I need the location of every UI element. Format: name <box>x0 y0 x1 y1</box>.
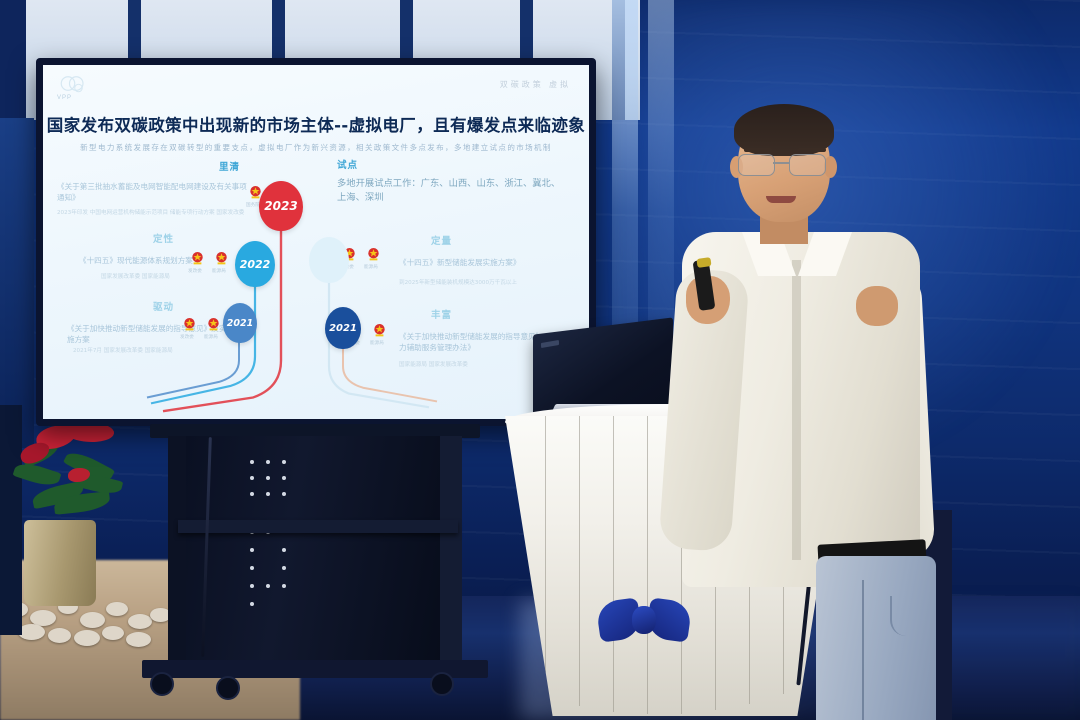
section-heading-qudong: 驱动 <box>153 299 174 313</box>
section-micro-qudong: 2021年7月 国家发展改革委 国家能源局 <box>73 347 227 355</box>
av-cart-shelf <box>178 520 458 533</box>
potted-plant <box>10 420 140 530</box>
slide-meta: 双碳政策 虚拟 <box>500 79 571 90</box>
caster-wheel <box>150 672 174 696</box>
emblem-label: 能源局 <box>204 334 218 340</box>
eyeglasses-icon <box>738 154 832 174</box>
section-heading-liangzhi: 里清 <box>219 159 240 173</box>
presenter-brow-right <box>798 148 826 152</box>
timeline-node-year: 2022 <box>240 258 271 271</box>
section-cite-dingliang: 《十四五》新型储能发展实施方案》 <box>399 257 569 268</box>
timeline-node-year: 2023 <box>264 199 297 213</box>
laptop-logo <box>541 340 559 348</box>
policy-timeline: 里清 《关于第三批抽水蓄能及电网智能配电网建设及有关事项通知》 2023年印发 … <box>43 165 589 419</box>
section-cite-liangzhi: 《关于第三批抽水蓄能及电网智能配电网建设及有关事项通知》 <box>57 181 247 204</box>
national-emblem-icon <box>373 323 386 338</box>
timeline-node-2021-right: 2021 <box>325 307 361 349</box>
emblem-label: 能源局 <box>212 268 226 274</box>
presenter-jeans <box>816 556 936 720</box>
presenter-brow-left <box>744 148 772 152</box>
planter-pot <box>24 520 96 606</box>
presenter-right-hand <box>856 286 898 326</box>
national-emblem-icon <box>367 247 380 262</box>
national-emblem-icon <box>183 317 196 332</box>
section-heading-shidian: 试点 <box>337 157 358 171</box>
national-emblem-icon <box>215 251 228 266</box>
av-cart-left-post <box>168 436 188 674</box>
slide-title: 国家发布双碳政策中出现新的市场主体--虚拟电厂，且有爆发点来临迹象 <box>43 112 589 136</box>
timeline-node-2023: 2023 <box>259 181 303 231</box>
av-cart-panel <box>186 436 444 674</box>
emblem-label: 发改委 <box>188 268 202 274</box>
display-screen: VPP 双碳政策 虚拟 国家发布双碳政策中出现新的市场主体--虚拟电厂，且有爆发… <box>36 58 596 426</box>
section-heading-dingxing: 定性 <box>153 231 174 245</box>
national-emblem-icon <box>207 317 220 332</box>
presenter <box>676 110 926 720</box>
caster-wheel <box>216 676 240 700</box>
section-micro-dingliang: 到2025年新型储能装机规模达3000万千瓦以上 <box>399 279 559 287</box>
timeline-node-year: 2021 <box>227 318 253 329</box>
section-heading-dingliang: 定量 <box>431 233 452 247</box>
section-body-shidian: 多地开展试点工作：广东、山西、山东、浙江、冀北、上海、深圳 <box>337 177 569 206</box>
company-logo-icon <box>59 75 89 95</box>
window-edge-dark <box>0 0 26 120</box>
slide-canvas: VPP 双碳政策 虚拟 国家发布双碳政策中出现新的市场主体--虚拟电厂，且有爆发… <box>43 65 589 419</box>
emblem-label: 发改委 <box>180 334 194 340</box>
section-heading-fengfu: 丰富 <box>431 307 452 321</box>
screenshot-root: VPP 双碳政策 虚拟 国家发布双碳政策中出现新的市场主体--虚拟电厂，且有爆发… <box>0 0 1080 720</box>
jeans-seam <box>862 580 864 720</box>
national-emblem-icon <box>191 251 204 266</box>
caster-wheel <box>430 672 454 696</box>
shirt-placket <box>792 260 801 560</box>
section-micro-liangzhi: 2023年印发 中国电网运营机构储能示范项目 储能专项行动方案 国家发改委 <box>57 209 253 217</box>
emblem-label: 能源局 <box>370 340 384 346</box>
slide-subtitle: 新型电力系统发展存在双碳转型的重要支点，虚拟电厂作为新兴资源，相关政策文件多点发… <box>43 142 589 153</box>
logo-subtext: VPP <box>57 95 72 101</box>
av-cart-right-post <box>440 436 462 674</box>
timeline-node-2022: 2022 <box>235 241 275 287</box>
section-micro-dingxing: 国家发展改革委 国家能源局 <box>101 273 229 281</box>
section-cite-dingxing: 《十四五》现代能源体系规划方案 <box>79 255 229 266</box>
timeline-node-ghost <box>309 237 349 283</box>
presenter-mouth <box>766 196 796 203</box>
jeans-pocket <box>890 596 926 636</box>
timeline-node-year: 2021 <box>329 323 357 334</box>
left-window-strip <box>0 118 34 448</box>
emblem-label: 国务院 <box>246 202 260 208</box>
emblem-label: 能源局 <box>364 264 378 270</box>
timeline-node-2021-left: 2021 <box>223 303 257 343</box>
section-cite-qudong: 《关于加快推动新型储能发展的指导意见》及实施方案 <box>67 323 227 346</box>
